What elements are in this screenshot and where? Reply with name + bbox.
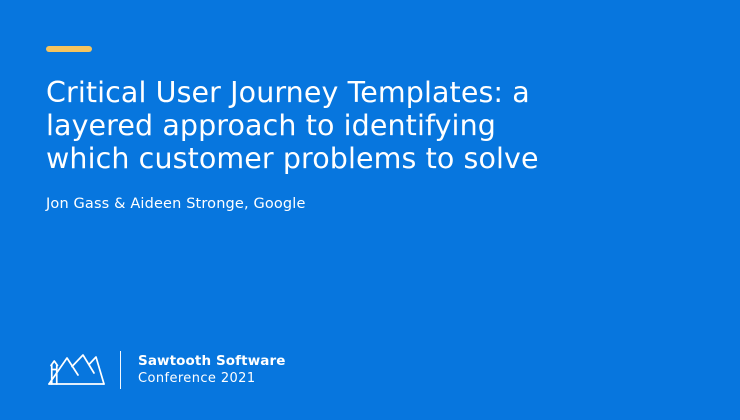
brand-subtitle: Conference 2021 bbox=[138, 370, 286, 387]
brand-text-block: Sawtooth Software Conference 2021 bbox=[138, 353, 286, 387]
presenter-byline: Jon Gass & Aideen Stronge, Google bbox=[46, 194, 306, 214]
footer-brand-lockup: Sawtooth Software Conference 2021 bbox=[46, 348, 286, 392]
title-line-2: layered approach to identifying bbox=[46, 109, 606, 142]
gold-accent-rule bbox=[46, 46, 92, 52]
brand-name: Sawtooth Software bbox=[138, 353, 286, 370]
page-title: Critical User Journey Templates: a layer… bbox=[46, 76, 606, 175]
brand-divider bbox=[120, 351, 121, 389]
title-slide: Critical User Journey Templates: a layer… bbox=[0, 0, 740, 420]
title-line-1: Critical User Journey Templates: a bbox=[46, 76, 606, 109]
sawtooth-mountains-icon bbox=[46, 351, 106, 389]
title-line-3: which customer problems to solve bbox=[46, 142, 606, 175]
